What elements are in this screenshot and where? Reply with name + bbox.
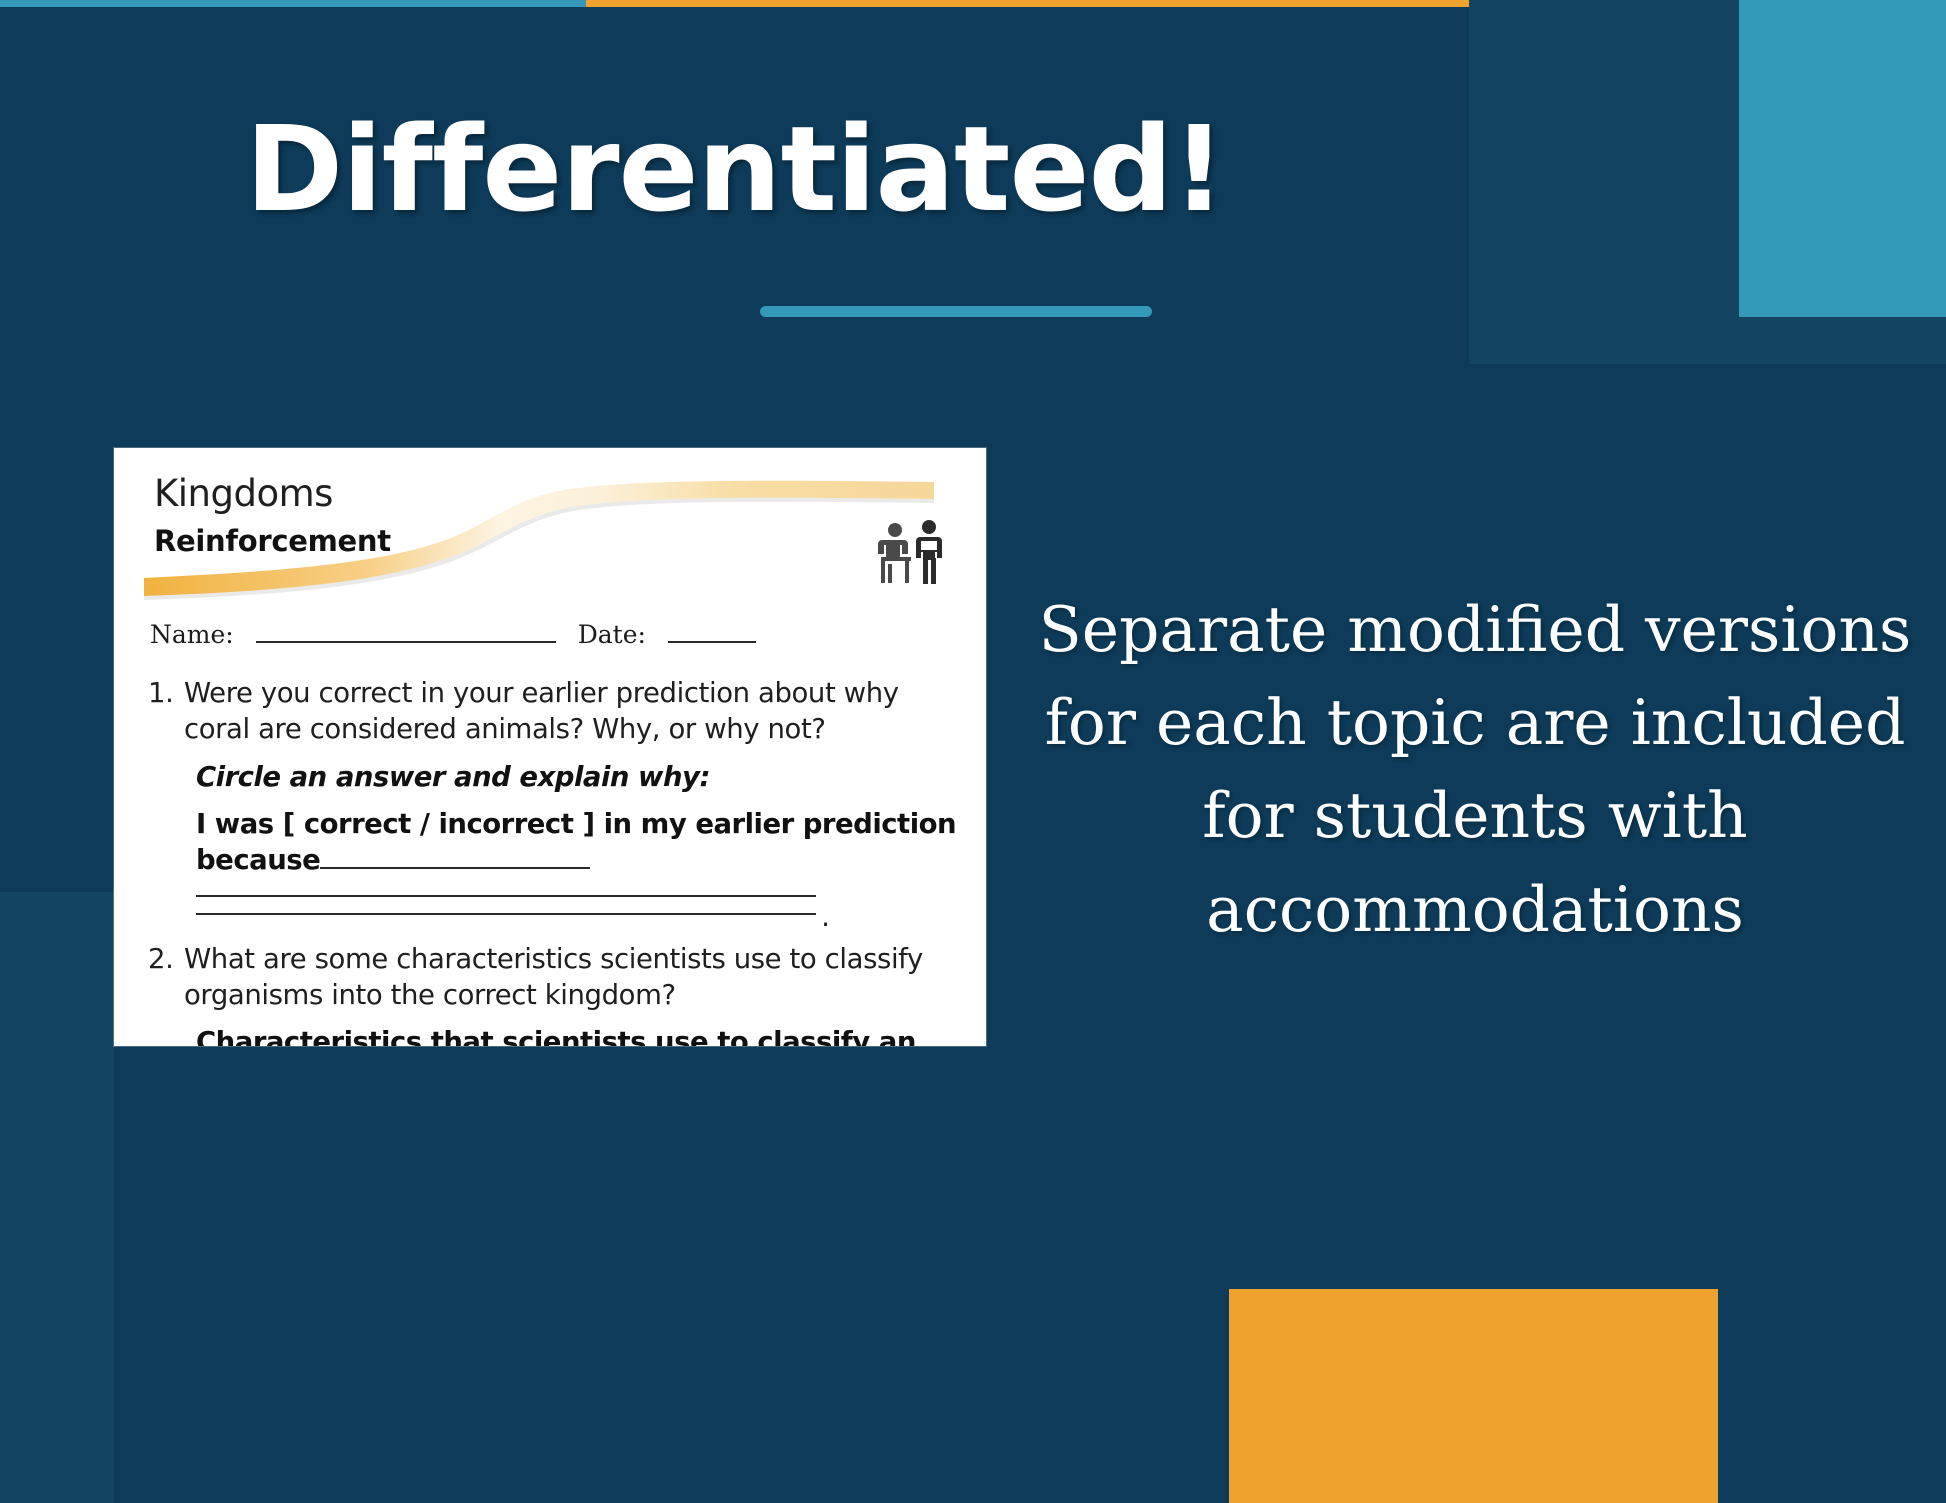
decor-block-top-right-teal [1739, 0, 1946, 317]
worksheet-content: Kingdoms Reinforcement [114, 448, 986, 1046]
teacher-and-student-icon [872, 518, 954, 590]
title-underline-rule [760, 306, 1152, 317]
worksheet-header: Kingdoms Reinforcement [140, 468, 960, 616]
answer-blank-line [196, 895, 816, 897]
question-prompt: Were you correct in your earlier predict… [184, 675, 960, 748]
slide-title: Differentiated! [0, 108, 1470, 232]
slide-canvas: Differentiated! Separate modified versio… [0, 0, 1946, 1503]
answer-lead: Characteristics that scientists use to c… [196, 1025, 960, 1046]
slide-body-text: Separate modified versions for each topi… [1030, 583, 1920, 956]
decor-block-bottom-left-navy [0, 892, 114, 1503]
answer-inline-blank-rule [320, 845, 590, 869]
answer-blank-line [196, 913, 816, 915]
worksheet-preview-image: Kingdoms Reinforcement [114, 448, 986, 1046]
answer-lead: I was [ correct / incorrect ] in my earl… [196, 807, 960, 879]
question-prompt: What are some characteristics scientists… [184, 941, 960, 1014]
top-strip-teal [0, 0, 586, 7]
question-number: 2. [140, 941, 184, 1014]
worksheet-title: Kingdoms [154, 472, 333, 515]
name-label: Name: [150, 620, 234, 649]
decor-block-bottom-right-orange [1229, 1289, 1718, 1503]
name-and-date-line: Name:Date: [150, 620, 960, 649]
worksheet-question: 1. Were you correct in your earlier pred… [140, 675, 960, 748]
question-number: 1. [140, 675, 184, 748]
answer-lead-italic-text: Circle an answer and explain why: [196, 761, 710, 793]
worksheet-question: 2. What are some characteristics scienti… [140, 941, 960, 1014]
date-label: Date: [578, 620, 646, 649]
worksheet-subtitle: Reinforcement [154, 524, 391, 558]
date-blank-rule [668, 621, 756, 643]
answer-lead-italic: Circle an answer and explain why: [196, 760, 960, 796]
name-blank-rule [256, 621, 556, 643]
